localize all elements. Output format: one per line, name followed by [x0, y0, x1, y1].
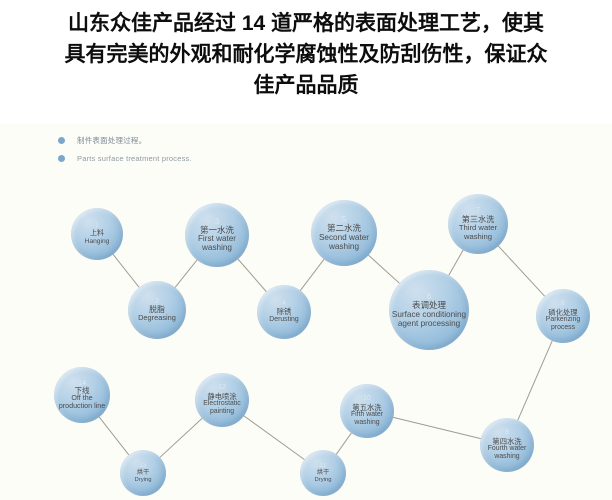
link-9-to-10	[392, 417, 481, 439]
node-label-cn: 第二水洗	[327, 224, 361, 233]
link-11-to-12	[243, 415, 305, 460]
node-label-en: Parkerizing process	[536, 316, 590, 331]
node-number: 6	[427, 292, 432, 301]
process-flow-diagram: 制件表面处理过程。 Parts surface treatment proces…	[0, 124, 612, 500]
node-label-cn: 第四水洗	[492, 438, 521, 446]
node-label-cn: 烘干	[137, 470, 149, 477]
process-node-6[interactable]: 6表调处理Surface conditioning agent processi…	[389, 270, 469, 350]
link-4-to-5	[300, 258, 325, 291]
link-3-to-4	[237, 258, 267, 292]
node-number: 2	[155, 297, 159, 305]
link-6-to-7	[448, 249, 463, 276]
node-number: 3	[215, 217, 220, 225]
node-label-cn: 磷化处理	[548, 309, 577, 317]
node-label-en: Drying	[133, 477, 154, 483]
process-node-13[interactable]: 13烘干Drying	[120, 450, 166, 496]
node-number: 9	[505, 429, 509, 436]
title-line-2: 具有完美的外观和耐化学腐蚀性及防刮伤性，保证众	[18, 39, 594, 70]
node-label-cn: 烘干	[317, 470, 329, 477]
node-label-en: Third water washing	[448, 224, 508, 241]
process-node-1[interactable]: 1上料Hanging	[71, 208, 123, 260]
process-node-5[interactable]: 5第二水洗Second water washing	[311, 200, 377, 266]
node-label-en: Drying	[313, 477, 334, 483]
link-7-to-8	[498, 245, 546, 297]
node-label-en: Off the production line	[54, 395, 110, 411]
node-label-cn: 上料	[90, 230, 104, 238]
process-node-8[interactable]: 8磷化处理Parkerizing process	[536, 289, 590, 343]
node-label-en: Electrostatic painting	[195, 400, 249, 415]
process-node-9[interactable]: 9第四水洗Fourth water washing	[480, 418, 534, 472]
node-label-en: First water washing	[185, 235, 249, 253]
link-2-to-3	[174, 259, 197, 288]
node-label-en: Fourth water washing	[480, 445, 534, 460]
process-node-11[interactable]: 11烘干Drying	[300, 450, 346, 496]
node-number: 11	[320, 463, 326, 469]
node-number: 10	[363, 395, 371, 402]
node-number: 12	[218, 384, 226, 391]
link-8-to-9	[517, 340, 552, 421]
node-label-cn: 表调处理	[412, 301, 446, 310]
process-node-12[interactable]: 12静电喷涂Electrostatic painting	[195, 373, 249, 427]
link-13-to-14	[99, 416, 130, 455]
node-number: 7	[476, 207, 480, 215]
link-5-to-6	[368, 254, 400, 283]
node-number: 14	[78, 379, 86, 386]
process-node-2[interactable]: 2脱脂Degreasing	[128, 281, 186, 339]
page-title: 山东众佳产品经过 14 道严格的表面处理工艺，使其 具有完美的外观和耐化学腐蚀性…	[0, 0, 612, 107]
node-label-en: Surface conditioning agent processing	[389, 310, 469, 328]
title-line-3: 佳产品品质	[18, 70, 594, 101]
node-label-en: Fifth water washing	[340, 411, 394, 426]
link-10-to-11	[336, 432, 352, 455]
node-number: 8	[561, 300, 565, 307]
link-12-to-13	[159, 418, 203, 458]
process-node-3[interactable]: 3第一水洗First water washing	[185, 203, 249, 267]
node-label-cn: 第五水洗	[352, 404, 381, 412]
node-label-en: Second water washing	[311, 233, 377, 251]
title-line-1: 山东众佳产品经过 14 道严格的表面处理工艺，使其	[18, 8, 594, 39]
node-number: 13	[140, 463, 147, 469]
process-node-4[interactable]: 4除锈Derusting	[257, 285, 311, 339]
link-1-to-2	[112, 254, 139, 288]
node-label-cn: 静电喷涂	[207, 393, 236, 401]
node-label-en: Derusting	[267, 316, 300, 324]
process-node-7[interactable]: 7第三水洗Third water washing	[448, 194, 508, 254]
node-number: 5	[342, 215, 347, 224]
node-label-en: Hanging	[83, 238, 112, 245]
node-label-en: Degreasing	[136, 314, 178, 322]
process-node-10[interactable]: 10第五水洗Fifth water washing	[340, 384, 394, 438]
process-node-14[interactable]: 14下线Off the production line	[54, 367, 110, 423]
node-number: 1	[95, 223, 99, 230]
node-number: 4	[282, 300, 286, 307]
node-label-cn: 除锈	[277, 308, 292, 316]
